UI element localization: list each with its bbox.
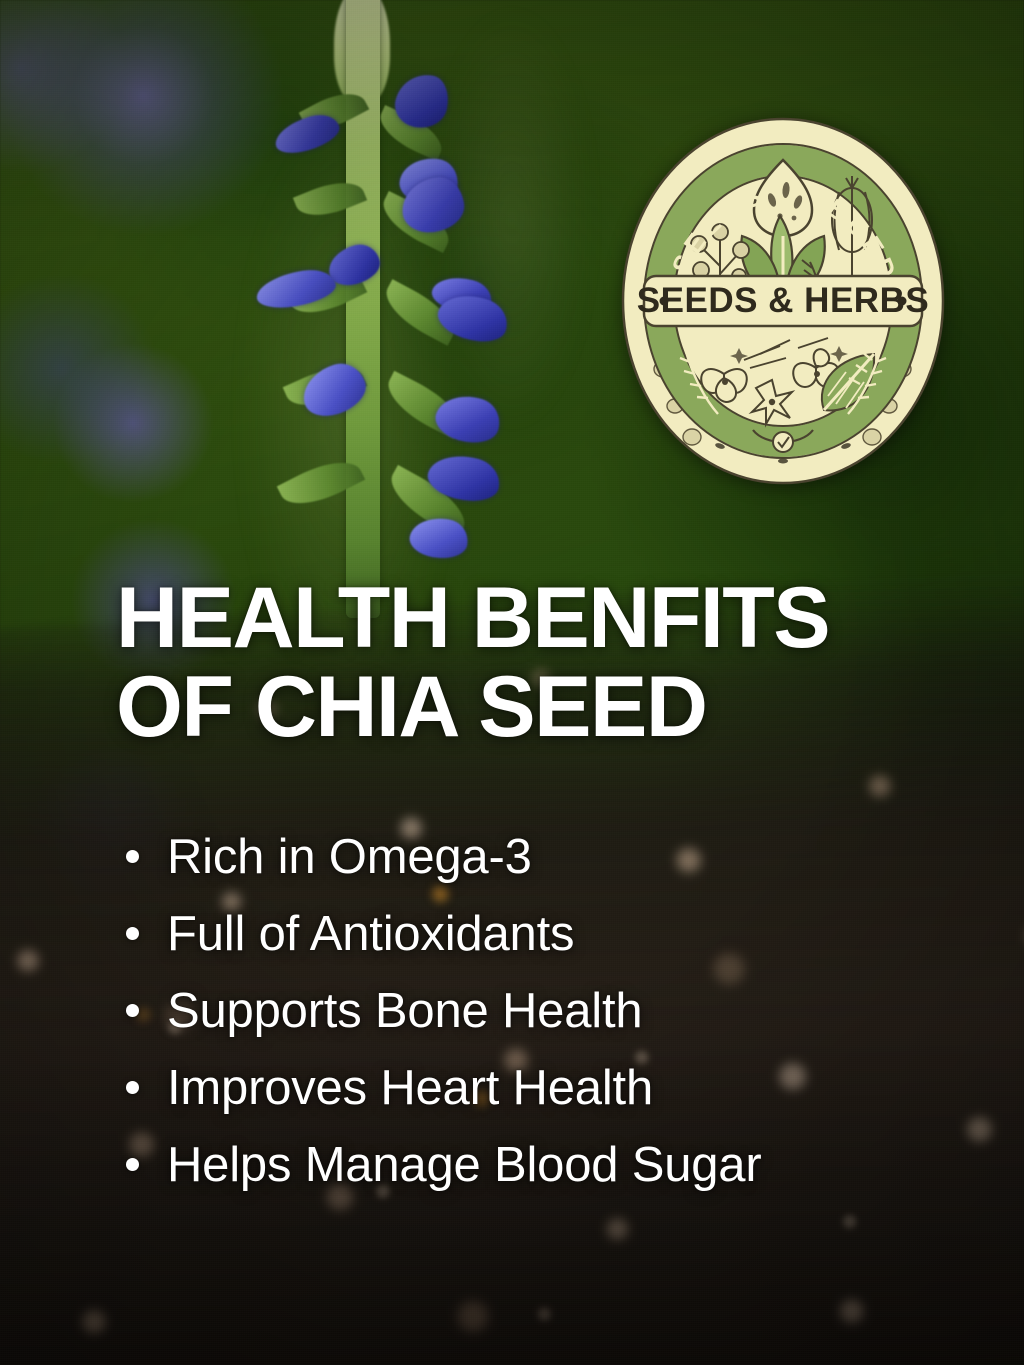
bullet-dot-icon [126,1158,139,1171]
list-item: Supports Bone Health [116,972,976,1049]
list-item-label: Supports Bone Health [167,983,642,1039]
list-item-label: Improves Heart Health [167,1060,653,1116]
page-title-line-1: HEALTH BENFITS [116,574,956,663]
list-item: Rich in Omega-3 [116,818,976,895]
seeds-and-herbs-badge-icon: SEEDS BUEDSO SEEDS & HERBS [620,116,946,486]
list-item-label: Helps Manage Blood Sugar [167,1137,761,1193]
bullet-dot-icon [126,927,139,940]
bullet-dot-icon [126,1081,139,1094]
page-title-line-2: OF CHIA SEED [116,663,956,752]
logo-wordmark-text: SEEDS & HERBS [637,281,929,320]
logo-wordmark-banner: SEEDS & HERBS [637,276,929,326]
bullet-dot-icon [126,1004,139,1017]
list-item-label: Rich in Omega-3 [167,829,532,885]
list-item: Helps Manage Blood Sugar [116,1126,976,1203]
list-item: Full of Antioxidants [116,895,976,972]
list-item-label: Full of Antioxidants [167,906,574,962]
brand-logo[interactable]: SEEDS BUEDSO SEEDS & HERBS [620,116,946,486]
bullet-dot-icon [126,850,139,863]
list-item: Improves Heart Health [116,1049,976,1126]
poster-canvas: SEEDS BUEDSO SEEDS & HERBS HEALTH BENFIT… [0,0,1024,1365]
page-title: HEALTH BENFITS OF CHIA SEED [116,574,956,753]
benefits-list: Rich in Omega-3 Full of Antioxidants Sup… [116,818,976,1203]
